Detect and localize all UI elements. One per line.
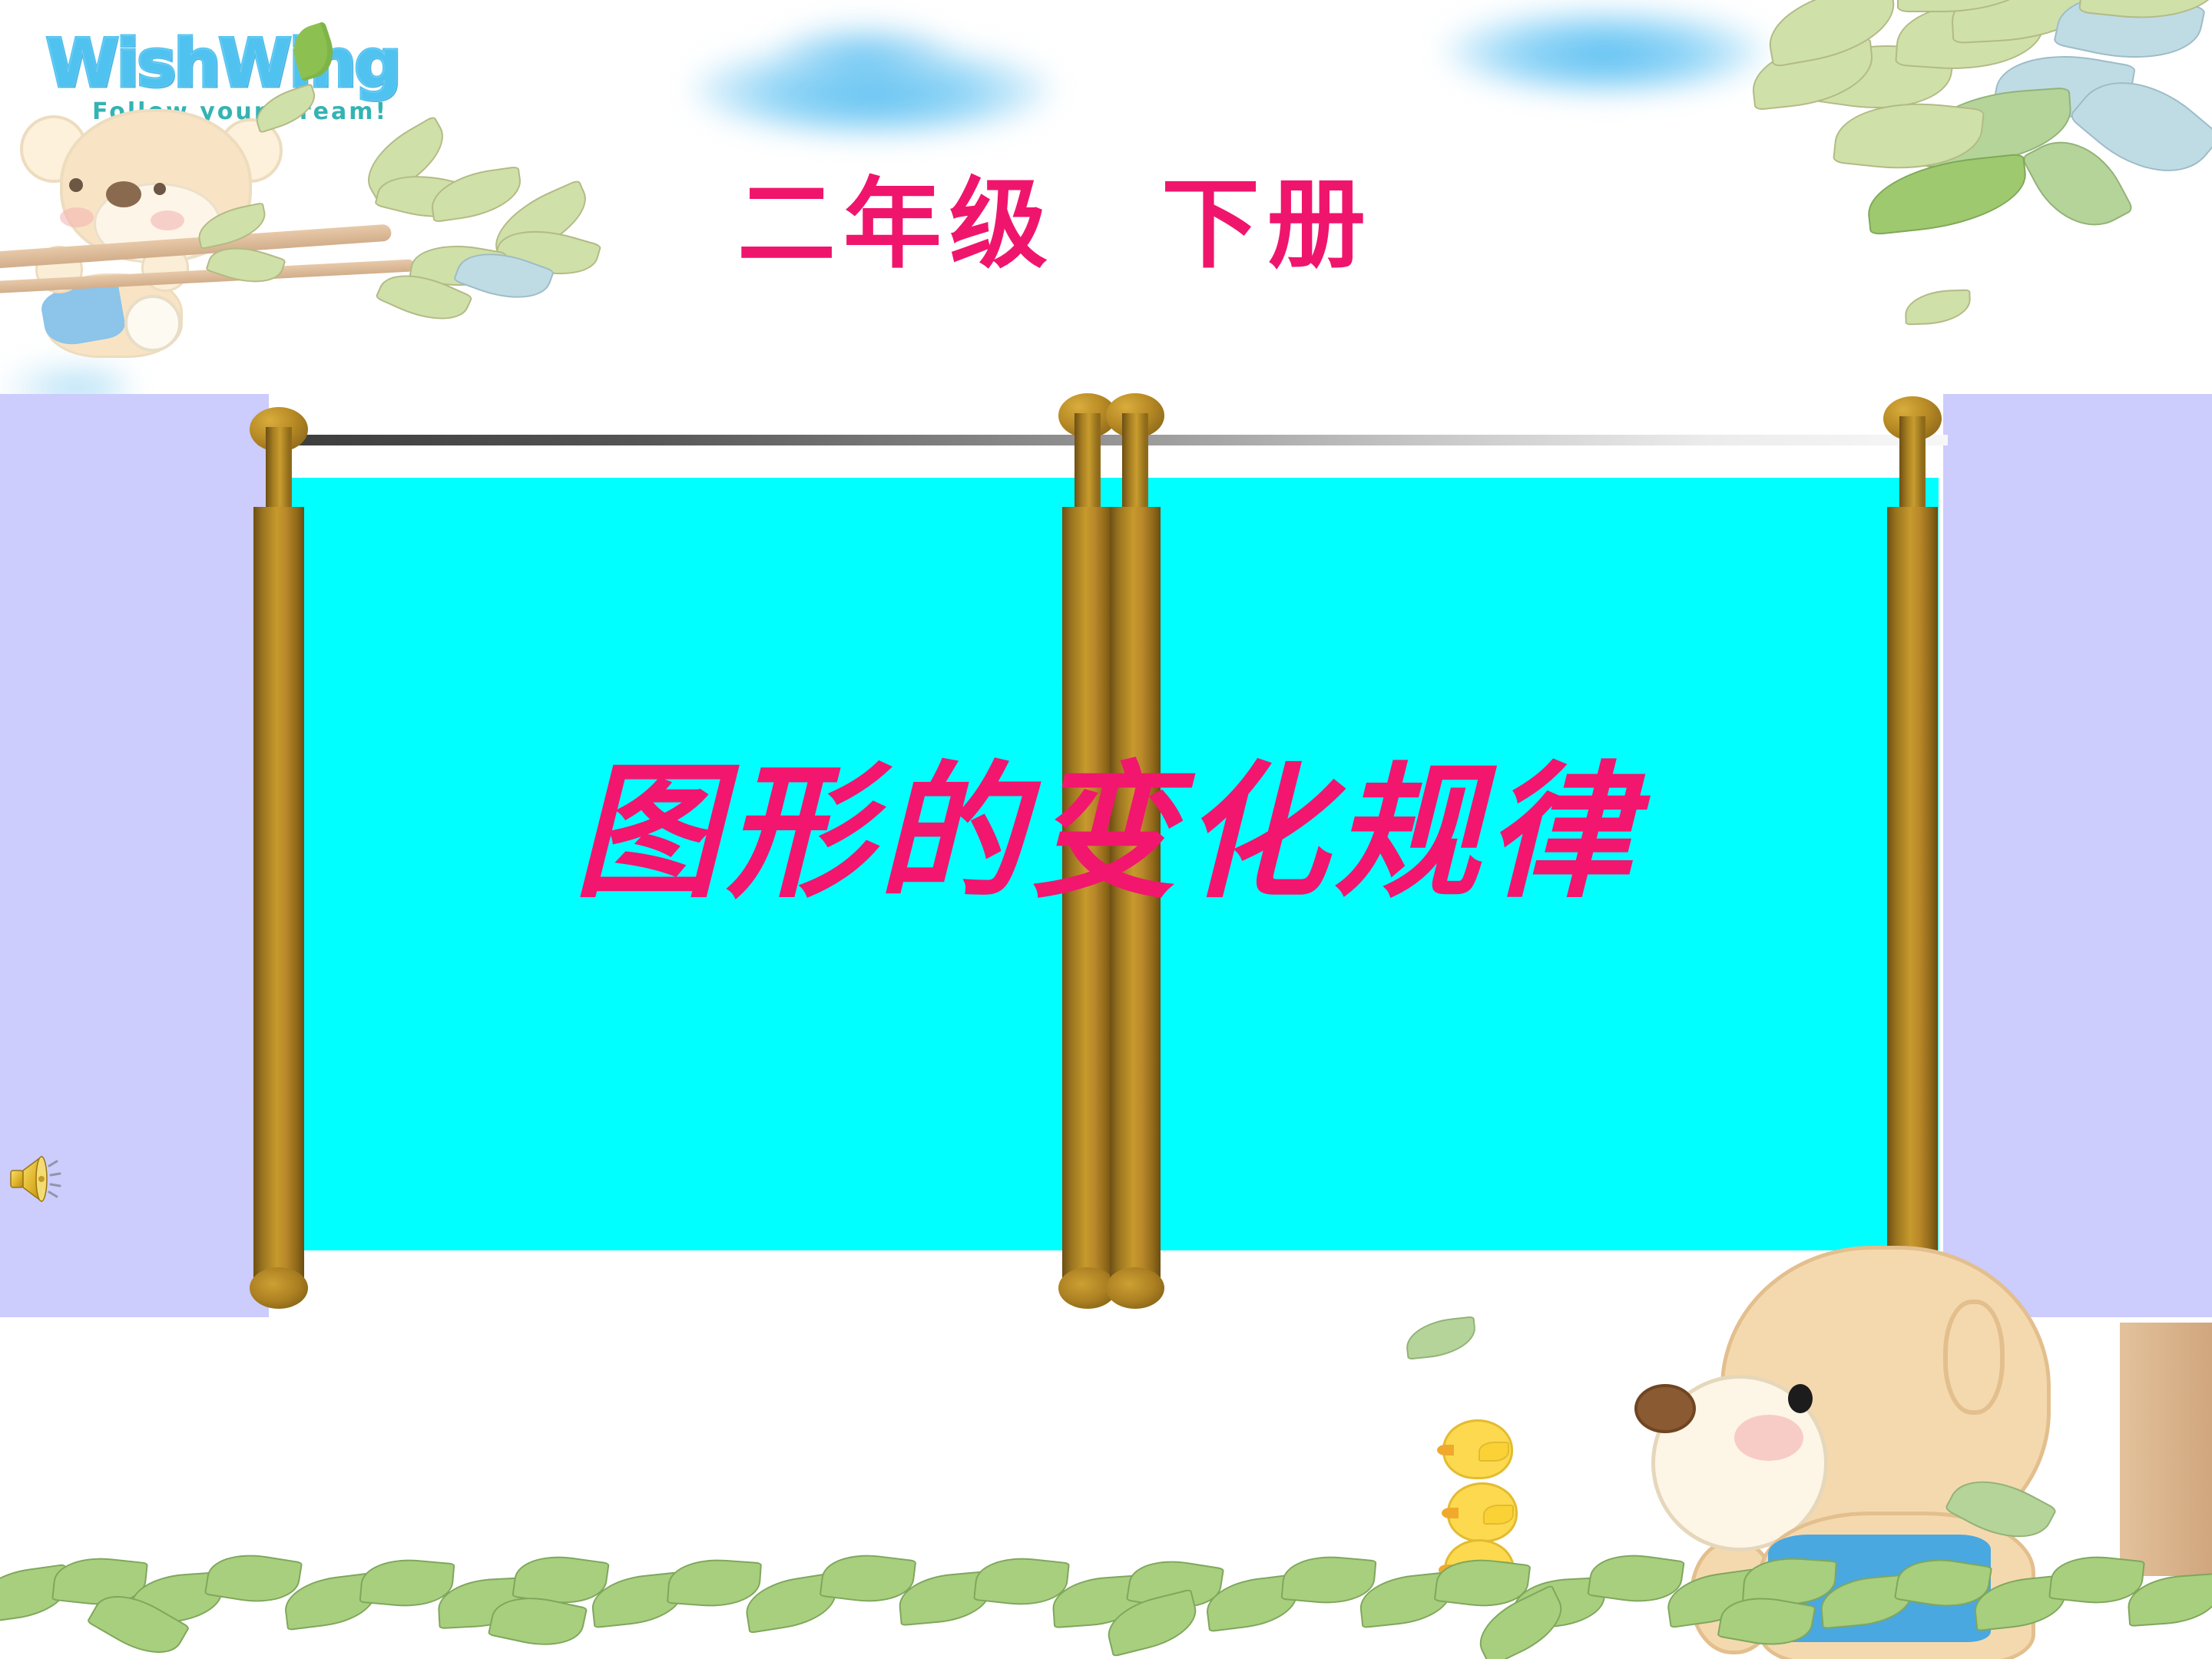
speaker-icon[interactable] xyxy=(8,1144,77,1214)
tree-trunk xyxy=(2120,1323,2212,1576)
falling-leaf-icon xyxy=(1404,1316,1479,1359)
scroll-rod xyxy=(258,435,1948,445)
teddy-bear-top-left xyxy=(0,92,323,346)
leaf-grass-strip xyxy=(0,1544,2212,1659)
slide-canvas: WishWing Follow your Dream! xyxy=(0,0,2212,1659)
lesson-title: 图形的变化规律 xyxy=(0,714,2212,926)
falling-leaf-icon xyxy=(1904,290,1971,326)
leaf-cluster-top-right xyxy=(1720,0,2212,276)
blue-cloud-icon xyxy=(1444,8,1767,92)
blue-cloud-icon xyxy=(776,23,952,84)
grade-title: 二年级 下册 xyxy=(737,144,1373,286)
teddy-bear-bottom-right xyxy=(1575,1238,2112,1591)
